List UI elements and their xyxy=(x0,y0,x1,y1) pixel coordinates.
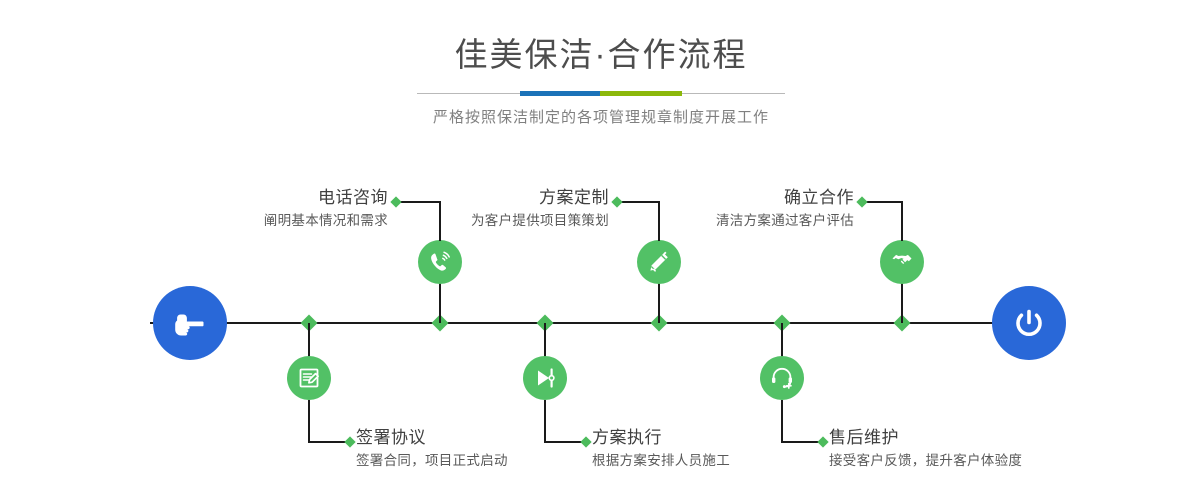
step-title-2: 签署协议 xyxy=(356,427,508,449)
connector-stem-4 xyxy=(544,323,546,357)
divider-segment-green xyxy=(600,91,682,96)
timeline-start-endpoint[interactable] xyxy=(153,286,227,360)
step-desc-1: 阐明基本情况和需求 xyxy=(150,211,388,231)
header: 佳美保洁·合作流程 严格按照保洁制定的各项管理规章制度开展工作 xyxy=(0,34,1202,129)
title-divider xyxy=(417,89,785,99)
flowchart-canvas: 佳美保洁·合作流程 严格按照保洁制定的各项管理规章制度开展工作 xyxy=(0,0,1202,502)
step-label-5: 确立合作 清洁方案通过客户评估 xyxy=(640,187,854,231)
label-dot-4 xyxy=(580,436,591,447)
label-dot-3 xyxy=(611,196,622,207)
document-sign-icon xyxy=(296,365,322,391)
step-desc-4: 根据方案安排人员施工 xyxy=(592,451,730,471)
step-desc-3: 为客户提供项目策策划 xyxy=(400,211,609,231)
step-desc-6: 接受客户反馈，提升客户体验度 xyxy=(829,451,1022,471)
page-subtitle: 严格按照保洁制定的各项管理规章制度开展工作 xyxy=(0,107,1202,129)
timeline-axis xyxy=(150,322,1060,324)
page-title: 佳美保洁·合作流程 xyxy=(0,34,1202,76)
label-elbow-h-5 xyxy=(864,201,903,203)
step-label-6: 售后维护 接受客户反馈，提升客户体验度 xyxy=(829,427,1022,471)
handshake-icon xyxy=(889,249,915,275)
step-title-5: 确立合作 xyxy=(640,187,854,209)
step-label-4: 方案执行 根据方案安排人员施工 xyxy=(592,427,730,471)
step-icon-6[interactable] xyxy=(760,356,804,400)
step-label-2: 签署协议 签署合同，项目正式启动 xyxy=(356,427,508,471)
step-title-3: 方案定制 xyxy=(400,187,609,209)
pencil-design-icon xyxy=(646,249,672,275)
label-elbow-v-5 xyxy=(901,201,903,241)
step-icon-2[interactable] xyxy=(287,356,331,400)
phone-call-icon xyxy=(427,249,453,275)
pointing-hand-icon xyxy=(170,303,210,343)
step-icon-3[interactable] xyxy=(637,240,681,284)
step-icon-5[interactable] xyxy=(880,240,924,284)
label-dot-2 xyxy=(344,436,355,447)
label-elbow-v-4 xyxy=(544,400,546,443)
play-execute-icon xyxy=(532,365,558,391)
connector-stem-6 xyxy=(781,323,783,357)
divider-segment-blue xyxy=(520,91,600,96)
step-desc-2: 签署合同，项目正式启动 xyxy=(356,451,508,471)
step-label-1: 电话咨询 阐明基本情况和需求 xyxy=(150,187,388,231)
label-elbow-v-2 xyxy=(308,400,310,443)
step-icon-4[interactable] xyxy=(523,356,567,400)
label-elbow-v-6 xyxy=(781,400,783,443)
step-label-3: 方案定制 为客户提供项目策策划 xyxy=(400,187,609,231)
step-title-4: 方案执行 xyxy=(592,427,730,449)
connector-stem-2 xyxy=(308,323,310,357)
power-button-icon xyxy=(1009,303,1049,343)
label-dot-6 xyxy=(817,436,828,447)
label-dot-5 xyxy=(856,196,867,207)
step-desc-5: 清洁方案通过客户评估 xyxy=(640,211,854,231)
timeline-end-endpoint[interactable] xyxy=(992,286,1066,360)
step-title-6: 售后维护 xyxy=(829,427,1022,449)
customer-service-icon xyxy=(769,365,795,391)
step-icon-1[interactable] xyxy=(418,240,462,284)
step-title-1: 电话咨询 xyxy=(150,187,388,209)
